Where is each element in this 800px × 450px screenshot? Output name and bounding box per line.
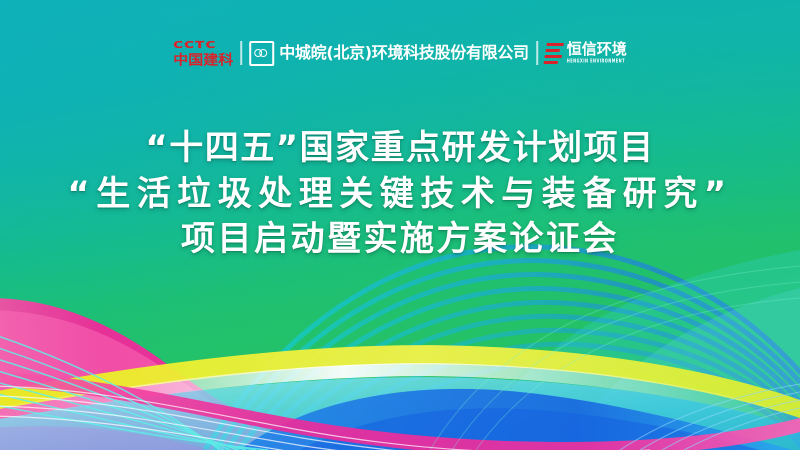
cctc-abbreviation: CCTC	[173, 40, 233, 50]
cctc-logo-mark: CCTC 中国建科	[173, 39, 233, 68]
hengxin-chinese-name: 恒信环境	[567, 42, 627, 57]
page-title: “十四五”国家重点研发计划项目 “生活垃圾处理关键技术与装备研究” 项目启动暨实…	[0, 126, 800, 263]
logo-bar: CCTC 中国建科 中城皖(北京)环境科技股份有限公司 恒信环境 HENGXIN…	[173, 36, 627, 70]
logo-cctc: CCTC 中国建科	[173, 36, 233, 70]
logo-hengxin: 恒信环境 HENGXIN ENVIRONMENT	[545, 36, 627, 70]
striped-bars-icon	[543, 43, 563, 64]
hengxin-text-block: 恒信环境 HENGXIN ENVIRONMENT	[567, 42, 627, 63]
title-line-1: “十四五”国家重点研发计划项目	[0, 126, 800, 172]
logo-divider-1	[240, 41, 242, 65]
interlocked-rings-icon	[249, 41, 274, 66]
title-line-3: 项目启动暨实施方案论证会	[0, 217, 800, 263]
cctc-chinese-name: 中国建科	[173, 53, 233, 67]
zhongchengwan-company-name: 中城皖(北京)环境科技股份有限公司	[279, 45, 529, 61]
logo-divider-2	[536, 41, 538, 65]
title-line-2: “生活垃圾处理关键技术与装备研究”	[0, 172, 800, 218]
hengxin-english-name: HENGXIN ENVIRONMENT	[567, 60, 627, 65]
logo-zhongchengwan: 中城皖(北京)环境科技股份有限公司	[249, 36, 529, 70]
conference-banner: CCTC 中国建科 中城皖(北京)环境科技股份有限公司 恒信环境 HENGXIN…	[0, 0, 800, 450]
